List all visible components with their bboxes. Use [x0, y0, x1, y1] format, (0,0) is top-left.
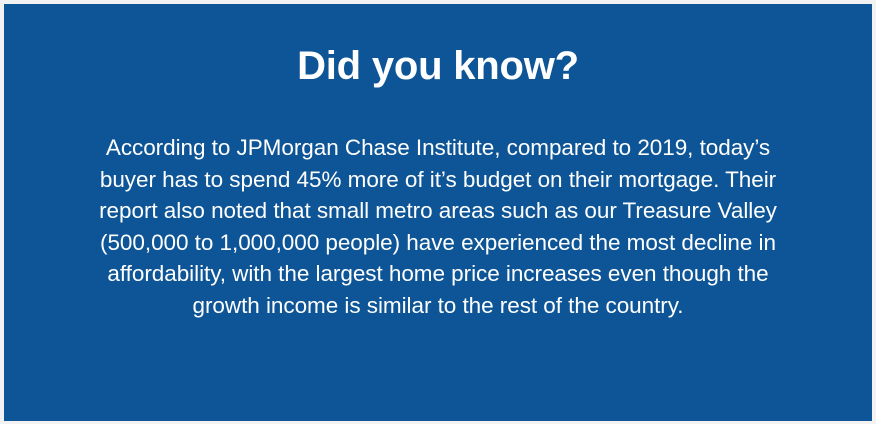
body-line: (500,000 to 1,000,000 people) have exper…	[52, 227, 824, 259]
info-card-panel: Did you know? According to JPMorgan Chas…	[4, 4, 872, 421]
body-line: affordability, with the largest home pri…	[52, 258, 824, 290]
body-line: report also noted that small metro areas…	[52, 195, 824, 227]
body-line: buyer has to spend 45% more of it’s budg…	[52, 164, 824, 196]
page-title: Did you know?	[297, 46, 579, 86]
info-card-frame: Did you know? According to JPMorgan Chas…	[0, 0, 876, 424]
body-line: According to JPMorgan Chase Institute, c…	[52, 132, 824, 164]
body-line: growth income is similar to the rest of …	[52, 290, 824, 322]
body-paragraph: According to JPMorgan Chase Institute, c…	[52, 132, 824, 321]
